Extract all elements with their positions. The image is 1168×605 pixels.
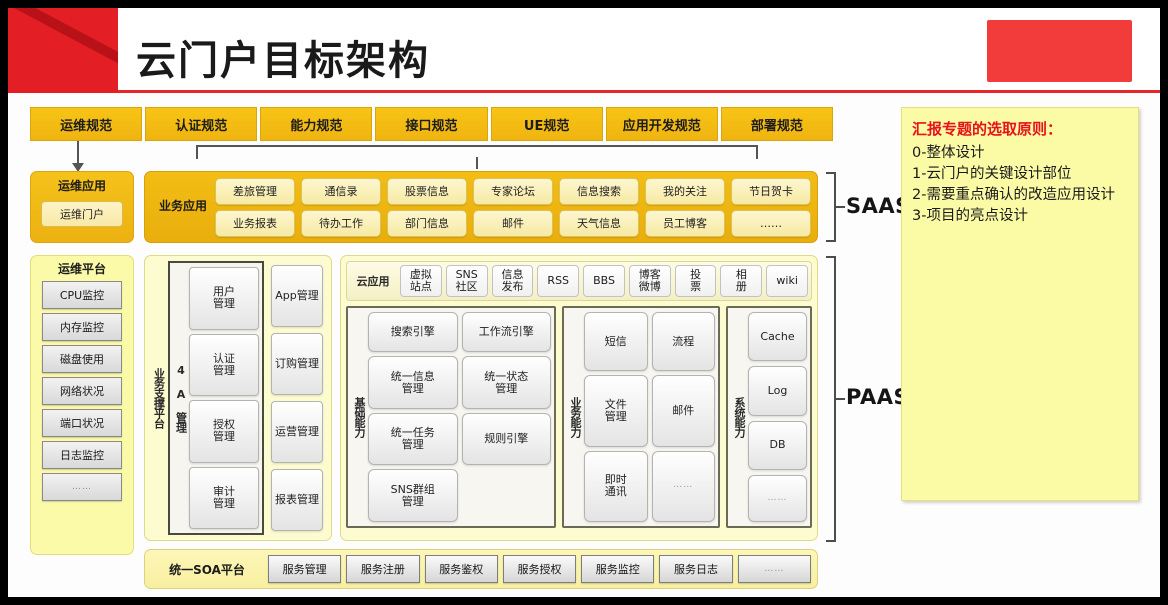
basic-cap-unified-info[interactable]: 统一信息管理 [368,356,458,409]
biz-cap-sms[interactable]: 短信 [584,312,648,371]
spec-chip-capability[interactable]: 能力规范 [260,107,372,141]
ops-portal-tile[interactable]: 运维门户 [41,201,123,227]
cloud-app-tile-virtual-site[interactable]: 虚拟站点 [400,265,442,297]
biz-app-tile[interactable]: 邮件 [473,210,553,237]
report-management-item[interactable]: 报表管理 [271,469,323,531]
four-a-item-user[interactable]: 用户管理 [189,267,259,330]
ops-platform-item-cpu[interactable]: CPU监控 [42,281,122,309]
basic-cap-rule-engine[interactable]: 规则引擎 [462,413,552,466]
header-red-accent-left [8,8,118,93]
biz-cap-more[interactable]: …… [652,451,716,522]
slide-header: 云门户目标架构 [8,8,1160,93]
basic-cap-unified-state[interactable]: 统一状态管理 [462,356,552,409]
basic-cap-workflow-engine[interactable]: 工作流引擎 [462,312,552,352]
four-a-management-label: 4 A 管理 [173,267,189,529]
basic-capability-grid: 搜索引擎 工作流引擎 统一信息管理 统一状态管理 统一任务管理 规则引擎 SNS… [368,312,551,522]
slide-canvas: 云门户目标架构 运维规范 认证规范 能力规范 接口规范 UE规范 应用开发规范 … [8,8,1160,597]
app-management-list: App管理 订购管理 运营管理 报表管理 [264,261,326,535]
biz-cap-file-management[interactable]: 文件管理 [584,375,648,446]
cloud-app-tile-bbs[interactable]: BBS [583,265,625,297]
operation-management-item[interactable]: 运营管理 [271,401,323,463]
biz-app-tile-more[interactable]: …… [731,210,811,237]
biz-cap-mail[interactable]: 邮件 [652,375,716,446]
spec-chip-app-dev[interactable]: 应用开发规范 [606,107,718,141]
app-management-item[interactable]: App管理 [271,265,323,327]
ops-platform-box: 运维平台 CPU监控 内存监控 磁盘使用 网络状况 端口状况 日志监控 …… [30,255,134,555]
cloud-app-tile-rss[interactable]: RSS [537,265,579,297]
soa-item-service-log[interactable]: 服务日志 [659,555,732,583]
ops-platform-item-log[interactable]: 日志监控 [42,441,122,469]
biz-app-tile[interactable]: 股票信息 [387,178,467,205]
biz-app-tile[interactable]: 信息搜索 [559,178,639,205]
ops-application-box: 运维应用 运维门户 [30,171,134,243]
four-a-item-auth[interactable]: 认证管理 [189,334,259,397]
four-a-item-audit[interactable]: 审计管理 [189,467,259,530]
spec-chip-interface[interactable]: 接口规范 [375,107,487,141]
capability-groups: 基础能力 搜索引擎 工作流引擎 统一信息管理 统一状态管理 统一任务管理 规则引… [346,306,812,528]
basic-cap-sns-group[interactable]: SNS群组管理 [368,469,458,522]
cloud-app-tile-album[interactable]: 相册 [720,265,762,297]
ops-platform-item-memory[interactable]: 内存监控 [42,313,122,341]
connector-bracket-stem [476,157,478,169]
sys-cap-cache[interactable]: Cache [748,312,807,361]
notes-panel: 汇报专题的选取原则： 0-整体设计 1-云门户的关键设计部位 2-需要重点确认的… [901,107,1139,501]
four-a-item-list: 用户管理 认证管理 授权管理 审计管理 [189,267,259,529]
basic-cap-placeholder [462,469,552,522]
biz-app-tile[interactable]: 天气信息 [559,210,639,237]
basic-cap-unified-task[interactable]: 统一任务管理 [368,413,458,466]
header-red-block-right [987,20,1132,82]
ops-platform-item-port[interactable]: 端口状况 [42,409,122,437]
business-support-platform-label: 业务支撑平台 [150,261,168,535]
biz-app-tile[interactable]: 业务报表 [215,210,295,237]
sys-cap-db[interactable]: DB [748,421,807,470]
biz-app-tile[interactable]: 员工博客 [645,210,725,237]
soa-item-service-monitoring[interactable]: 服务监控 [581,555,654,583]
business-support-platform-box: 业务支撑平台 4 A 管理 用户管理 认证管理 授权管理 审计管理 App管理 … [144,255,332,541]
notes-line-0: 0-整体设计 [912,143,1128,164]
notes-panel-title: 汇报专题的选取原则： [912,118,1128,139]
system-capability-group: 系统能力 Cache Log DB …… [726,306,812,528]
sys-cap-log[interactable]: Log [748,366,807,415]
paas-layer-bracket [826,256,836,542]
basic-cap-search-engine[interactable]: 搜索引擎 [368,312,458,352]
paas-layer-label: PAAS [846,385,909,409]
system-capability-label: 系统能力 [731,312,748,522]
four-a-management-box: 4 A 管理 用户管理 认证管理 授权管理 审计管理 [168,261,264,535]
soa-platform-row: 统一SOA平台 服务管理 服务注册 服务鉴权 服务授权 服务监控 服务日志 …… [144,549,818,589]
business-application-grid: 差旅管理 通信录 股票信息 专家论坛 信息搜索 我的关注 节日贺卡 业务报表 待… [215,178,811,237]
basic-capability-label: 基础能力 [351,312,368,522]
spec-chip-auth[interactable]: 认证规范 [145,107,257,141]
notes-line-1: 1-云门户的关键设计部位 [912,164,1128,185]
spec-chip-ue[interactable]: UE规范 [491,107,603,141]
system-capability-grid: Cache Log DB …… [748,312,807,522]
biz-app-tile[interactable]: 节日贺卡 [731,178,811,205]
soa-item-service-authentication[interactable]: 服务鉴权 [425,555,498,583]
biz-app-tile[interactable]: 差旅管理 [215,178,295,205]
notes-line-3: 3-项目的亮点设计 [912,206,1128,227]
soa-item-service-authorization[interactable]: 服务授权 [503,555,576,583]
biz-app-tile[interactable]: 专家论坛 [473,178,553,205]
spec-chip-ops[interactable]: 运维规范 [30,107,142,141]
subscription-management-item[interactable]: 订购管理 [271,333,323,395]
spec-chip-deploy[interactable]: 部署规范 [721,107,833,141]
cloud-app-tile-vote[interactable]: 投票 [675,265,717,297]
sys-cap-more[interactable]: …… [748,475,807,522]
ops-platform-item-more[interactable]: …… [42,473,122,501]
soa-platform-label: 统一SOA平台 [151,561,263,578]
biz-app-tile[interactable]: 部门信息 [387,210,467,237]
four-a-item-authorization[interactable]: 授权管理 [189,400,259,463]
cloud-app-tile-sns[interactable]: SNS社区 [446,265,488,297]
business-application-box: 业务应用 差旅管理 通信录 股票信息 专家论坛 信息搜索 我的关注 节日贺卡 业… [144,171,818,243]
biz-cap-process[interactable]: 流程 [652,312,716,371]
ops-platform-item-network[interactable]: 网络状况 [42,377,122,405]
ops-platform-title: 运维平台 [31,260,133,277]
cloud-app-tile-blog[interactable]: 博客微博 [629,265,671,297]
diagram-canvas: 运维规范 认证规范 能力规范 接口规范 UE规范 应用开发规范 部署规范 运维应… [8,93,1160,597]
soa-item-service-management[interactable]: 服务管理 [268,555,341,583]
business-capability-label: 业务能力 [567,312,584,522]
cloud-application-label: 云应用 [350,265,396,297]
cloud-app-tile-wiki[interactable]: wiki [766,265,808,297]
cloud-app-tile-info-publish[interactable]: 信息发布 [492,265,534,297]
paas-layer-tick [836,398,845,400]
biz-app-tile[interactable]: 我的关注 [645,178,725,205]
ops-platform-item-disk[interactable]: 磁盘使用 [42,345,122,373]
biz-app-tile[interactable]: 通信录 [301,178,381,205]
cloud-application-row: 云应用 虚拟站点 SNS社区 信息发布 RSS BBS 博客微博 投票 相册 w… [346,261,812,301]
biz-cap-instant-messaging[interactable]: 即时通讯 [584,451,648,522]
capability-platform-box: 云应用 虚拟站点 SNS社区 信息发布 RSS BBS 博客微博 投票 相册 w… [340,255,818,541]
business-capability-group: 业务能力 短信 流程 文件管理 邮件 即时通讯 …… [562,306,720,528]
saas-layer-bracket [826,172,836,242]
ops-application-title: 运维应用 [31,177,133,194]
notes-line-2: 2-需要重点确认的改造应用设计 [912,185,1128,206]
soa-item-service-registry[interactable]: 服务注册 [346,555,419,583]
soa-item-more[interactable]: …… [738,555,811,583]
biz-app-tile[interactable]: 待办工作 [301,210,381,237]
page-title: 云门户目标架构 [136,28,430,86]
basic-capability-group: 基础能力 搜索引擎 工作流引擎 统一信息管理 统一状态管理 统一任务管理 规则引… [346,306,556,528]
saas-layer-tick [836,206,845,208]
business-capability-grid: 短信 流程 文件管理 邮件 即时通讯 …… [584,312,715,522]
specification-bar: 运维规范 认证规范 能力规范 接口规范 UE规范 应用开发规范 部署规范 [30,107,833,141]
business-application-label: 业务应用 [151,200,215,214]
